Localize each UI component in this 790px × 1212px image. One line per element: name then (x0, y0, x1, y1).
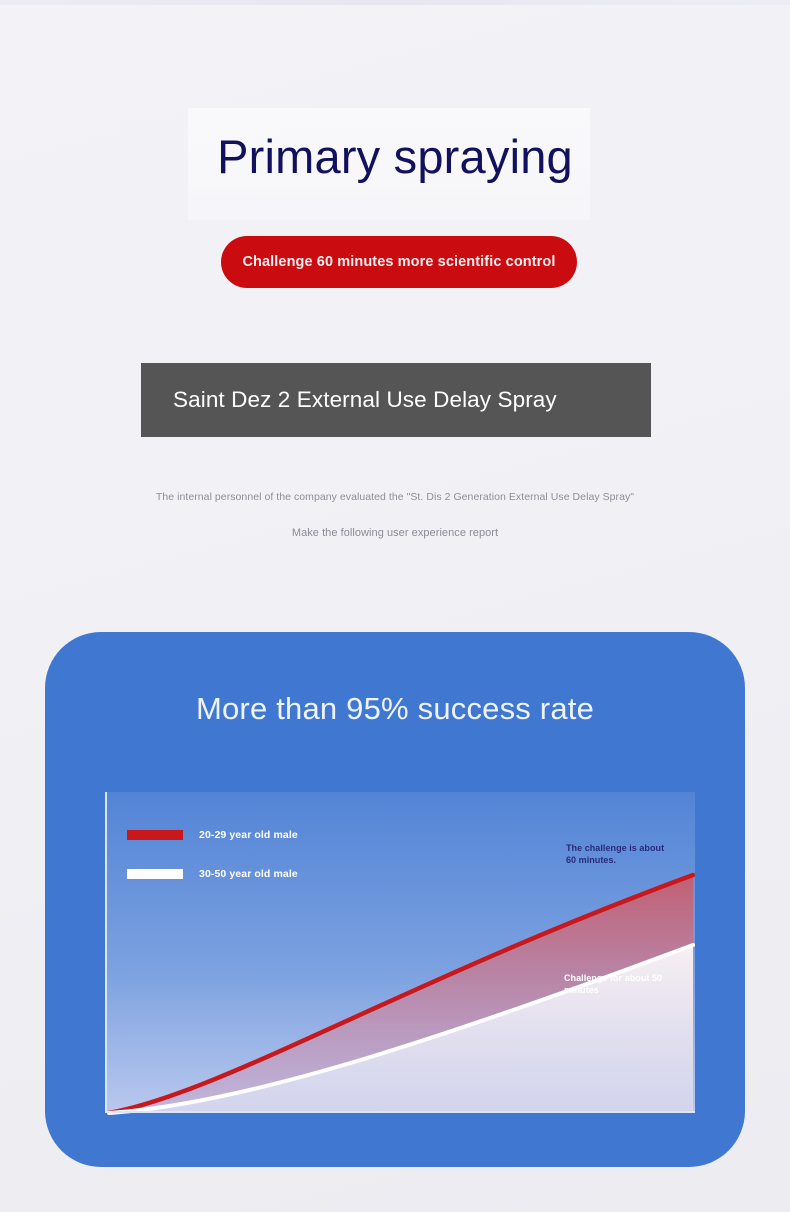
description-line-1: The internal personnel of the company ev… (0, 491, 790, 503)
cta-button-label: Challenge 60 minutes more scientific con… (242, 254, 555, 270)
product-banner: Saint Dez 2 External Use Delay Spray (141, 363, 651, 437)
stat-card-heading: More than 95% success rate (45, 691, 745, 727)
stat-card: More than 95% success rate (45, 632, 745, 1167)
legend-item-30-50: 30-50 year old male (127, 864, 298, 884)
legend-swatch-red-icon (127, 830, 183, 840)
top-accent-strip (0, 0, 790, 5)
legend-label-30-50: 30-50 year old male (199, 868, 298, 880)
description-line-2: Make the following user experience repor… (0, 527, 790, 539)
chart-annotation-white: Challenge for about 50 minutes (564, 972, 662, 996)
product-banner-label: Saint Dez 2 External Use Delay Spray (173, 387, 557, 413)
chart-legend: 20-29 year old male 30-50 year old male (127, 825, 298, 903)
chart-annotation-red: The challenge is about 60 minutes. (566, 842, 664, 866)
legend-item-20-29: 20-29 year old male (127, 825, 298, 845)
cta-button[interactable]: Challenge 60 minutes more scientific con… (221, 236, 577, 288)
legend-label-20-29: 20-29 year old male (199, 829, 298, 841)
page-title: Primary spraying (0, 130, 790, 184)
legend-swatch-white-icon (127, 869, 183, 879)
